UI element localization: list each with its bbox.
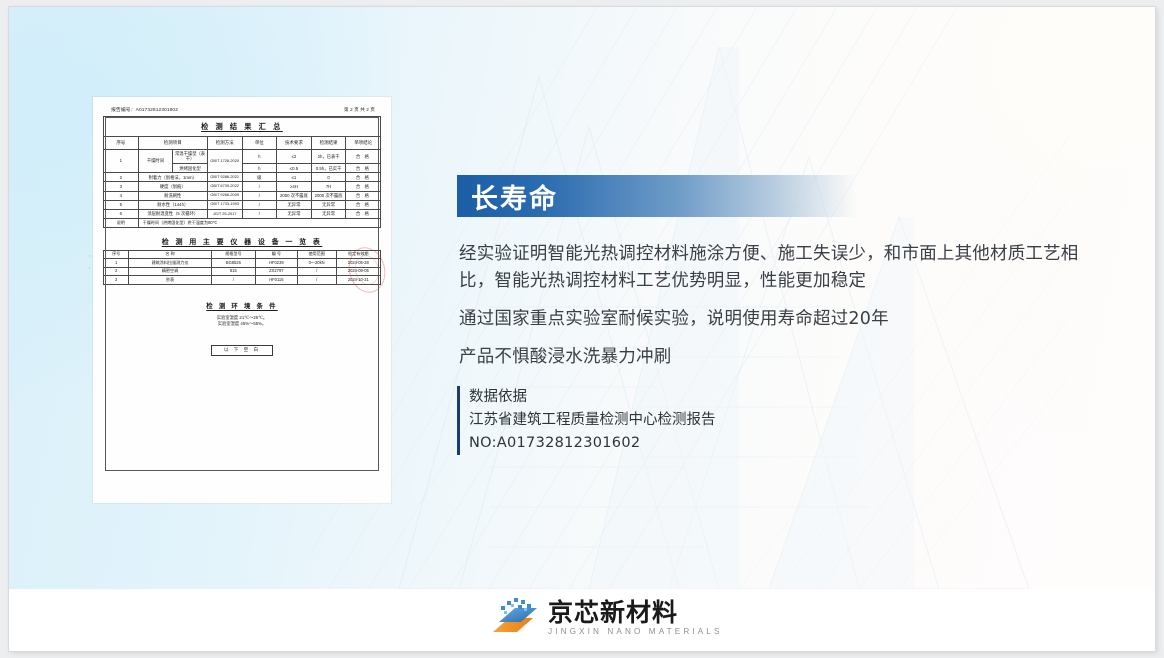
cell-result: 无异常: [311, 200, 346, 209]
cell-item: 耐洗刷性: [138, 191, 207, 200]
data-source-block: 数据依据 江苏省建筑工程质量检测中心检测报告 NO:A0173281230160…: [457, 386, 716, 455]
table-row: 2 精密空调 815 ZX2797 / 2024-09-05: [104, 267, 381, 276]
table-row: 6 涂层耐温变性（5 次循环） JG/T 25-2017 / 无异常 无异常 合…: [104, 209, 381, 218]
eq-col-valid: 检定有效期: [336, 250, 380, 259]
cell-conclusion: 合 格: [346, 209, 381, 218]
report-number: 报告编号：A01732812301602: [111, 107, 178, 113]
table-row: 1 干燥时间 常温干燥型（表干） GB/T 1728-2020 h ≤2 2h，…: [104, 149, 381, 164]
source-label: 数据依据: [469, 386, 716, 409]
cell-method: GB/T 9286-2021: [207, 173, 242, 182]
cell-result: 2h，已表干: [311, 149, 346, 164]
cell-method: GB/T 6739-2022: [207, 182, 242, 191]
cell-item: 涂层耐温变性（5 次循环）: [138, 209, 207, 218]
cell-require: 无异常: [277, 200, 312, 209]
cell-unit: /: [242, 182, 277, 191]
eq-col-name: 名 称: [129, 250, 211, 259]
eq-valid: 2024-10-21: [336, 276, 380, 285]
report-header: 报告编号：A01732812301602 第 2 页 共 2 页: [103, 105, 381, 116]
table-row: 4 耐洗刷性 GB/T 9266-2009 / 2000 次不露底 2000 次…: [104, 191, 381, 200]
cell-unit: 级: [242, 173, 277, 182]
cell-result: 7H: [311, 182, 346, 191]
cell-conclusion: 合 格: [346, 191, 381, 200]
report-page-label: 第 2 页 共 2 页: [344, 107, 375, 113]
background-line-pattern: [309, 7, 1069, 589]
cell-no: 6: [104, 209, 139, 218]
eq-code: HF0239: [256, 259, 298, 268]
table-row: 3 秒表 / HF0115 / 2024-10-21: [104, 276, 381, 285]
eq-model: BG8526: [211, 259, 255, 268]
table-row: 5 耐水性（144h） GB/T 1733-1993 / 无异常 无异常 合 格: [104, 200, 381, 209]
paragraph-2: 通过国家重点实验室耐候实验，说明使用寿命超过20年: [459, 306, 889, 333]
logo-mark-icon: [487, 598, 539, 640]
test-results-table: 检 测 结 果 汇 总 序号 检测项目 检测方法 单位 技术要求 检测结果 单项…: [103, 116, 381, 228]
note-label: 说明: [104, 218, 139, 227]
eq-model: 815: [211, 267, 255, 276]
eq-col-code: 编 号: [256, 250, 298, 259]
eq-range: 0～20kN: [297, 259, 336, 268]
cell-item: 附着力（划格法，1mm）: [138, 173, 207, 182]
eq-model: /: [211, 276, 255, 285]
cell-item: 耐水性（144h）: [138, 200, 207, 209]
eq-no: 1: [104, 259, 129, 268]
col-require: 技术要求: [277, 137, 312, 150]
cell-item: 烘烤固化型: [173, 164, 208, 173]
test-report-document[interactable]: 报告编号：A01732812301602 第 2 页 共 2 页 检 测 结 果…: [93, 97, 391, 503]
col-conclusion: 单项结论: [346, 137, 381, 150]
blank-below-box: 以 下 空 白: [211, 345, 273, 356]
note-text: 干燥时间（烘烤固化型）烘干温度为80℃: [138, 218, 380, 227]
cell-unit: /: [242, 209, 277, 218]
eq-range: /: [297, 267, 336, 276]
cell-conclusion: 合 格: [346, 164, 381, 173]
eq-col-no: 序号: [104, 250, 129, 259]
table-row: 1 建筑涂料拉拔测力仪 BG8526 HF0239 0～20kN 2024-05…: [104, 259, 381, 268]
cell-result: 2000 次不露底: [311, 191, 346, 200]
cell-method: GB/T 1728-2020: [207, 149, 242, 173]
cell-result: 0.5h，已实干: [311, 164, 346, 173]
cell-require: ≥4H: [277, 182, 312, 191]
logo-name-en: JINGXIN NANO MATERIALS: [548, 626, 723, 638]
equipment-header-row: 序号 名 称 规格型号 编 号 使用范围 检定有效期: [104, 250, 381, 259]
cell-require: ≤0.5: [277, 164, 312, 173]
cell-result: 无异常: [311, 209, 346, 218]
page-title: 长寿命: [457, 177, 558, 216]
eq-no: 3: [104, 276, 129, 285]
cell-method: GB/T 9266-2009: [207, 191, 242, 200]
eq-no: 2: [104, 267, 129, 276]
cell-no: 5: [104, 200, 139, 209]
eq-name: 秒表: [129, 276, 211, 285]
slide-canvas: 报告编号：A01732812301602 第 2 页 共 2 页 检 测 结 果…: [9, 7, 1155, 651]
table-title-row: 检 测 结 果 汇 总: [104, 117, 381, 137]
eq-range: /: [297, 276, 336, 285]
equipment-table: 序号 名 称 规格型号 编 号 使用范围 检定有效期 1 建筑涂料拉拔测力仪 B…: [103, 250, 381, 285]
table-note-row: 说明 干燥时间（烘烤固化型）烘干温度为80℃: [104, 218, 381, 227]
col-unit: 单位: [242, 137, 277, 150]
cell-no: 4: [104, 191, 139, 200]
cell-require: ≤2: [277, 149, 312, 164]
paragraph-3: 产品不惧酸浸水洗暴力冲刷: [459, 344, 671, 371]
cell-no: 2: [104, 173, 139, 182]
cell-unit: /: [242, 191, 277, 200]
cell-require: ≤1: [277, 173, 312, 182]
cell-method: JG/T 25-2017: [207, 209, 242, 218]
cell-require: 无异常: [277, 209, 312, 218]
page-edge-marks: ,,: [89, 249, 90, 273]
eq-name: 精密空调: [129, 267, 211, 276]
cell-unit: /: [242, 200, 277, 209]
results-title: 检 测 结 果 汇 总: [104, 117, 381, 137]
cell-item-group: 干燥时间: [138, 149, 173, 173]
col-item: 检测项目: [138, 137, 207, 150]
cell-conclusion: 合 格: [346, 182, 381, 191]
cell-unit: h: [242, 164, 277, 173]
cell-unit: h: [242, 149, 277, 164]
cell-require: 2000 次不露底: [277, 191, 312, 200]
paragraph-1: 经实验证明智能光热调控材料施涂方便、施工失误少，和市面上其他材质工艺相比，智能光…: [459, 241, 1103, 295]
eq-valid: 2024-05-28: [336, 259, 380, 268]
eq-code: HF0115: [256, 276, 298, 285]
logo-name-cn: 京芯新材料: [548, 600, 723, 626]
cell-conclusion: 合 格: [346, 200, 381, 209]
environment-humidity: 实验室湿度 45%～55%。: [103, 321, 381, 327]
cell-no: 3: [104, 182, 139, 191]
eq-col-model: 规格型号: [211, 250, 255, 259]
table-header-row: 序号 检测项目 检测方法 单位 技术要求 检测结果 单项结论: [104, 137, 381, 150]
source-report-number: NO:A01732812301602: [469, 432, 716, 455]
section-title-banner: 长寿命: [457, 175, 857, 217]
cell-item: 硬度（划痕）: [138, 182, 207, 191]
cell-conclusion: 合 格: [346, 173, 381, 182]
eq-col-range: 使用范围: [297, 250, 336, 259]
cell-conclusion: 合 格: [346, 149, 381, 164]
cell-result: 0: [311, 173, 346, 182]
col-result: 检测结果: [311, 137, 346, 150]
logo-text: 京芯新材料 JINGXIN NANO MATERIALS: [548, 600, 723, 638]
equipment-title: 检 测 用 主 要 仪 器 设 备 一 览 表: [103, 237, 381, 247]
table-row: 2 附着力（划格法，1mm） GB/T 9286-2021 级 ≤1 0 合 格: [104, 173, 381, 182]
col-no: 序号: [104, 137, 139, 150]
cell-item: 常温干燥型（表干）: [173, 149, 208, 164]
eq-name: 建筑涂料拉拔测力仪: [129, 259, 211, 268]
cell-no: 1: [104, 149, 139, 173]
environment-title: 检 测 环 境 条 件: [103, 301, 381, 310]
col-method: 检测方法: [207, 137, 242, 150]
cell-method: GB/T 1733-1993: [207, 200, 242, 209]
eq-valid: 2024-09-05: [336, 267, 380, 276]
eq-code: ZX2797: [256, 267, 298, 276]
source-organization: 江苏省建筑工程质量检测中心检测报告: [469, 409, 716, 432]
table-row: 3 硬度（划痕） GB/T 6739-2022 / ≥4H 7H 合 格: [104, 182, 381, 191]
company-logo: 京芯新材料 JINGXIN NANO MATERIALS: [487, 597, 723, 641]
